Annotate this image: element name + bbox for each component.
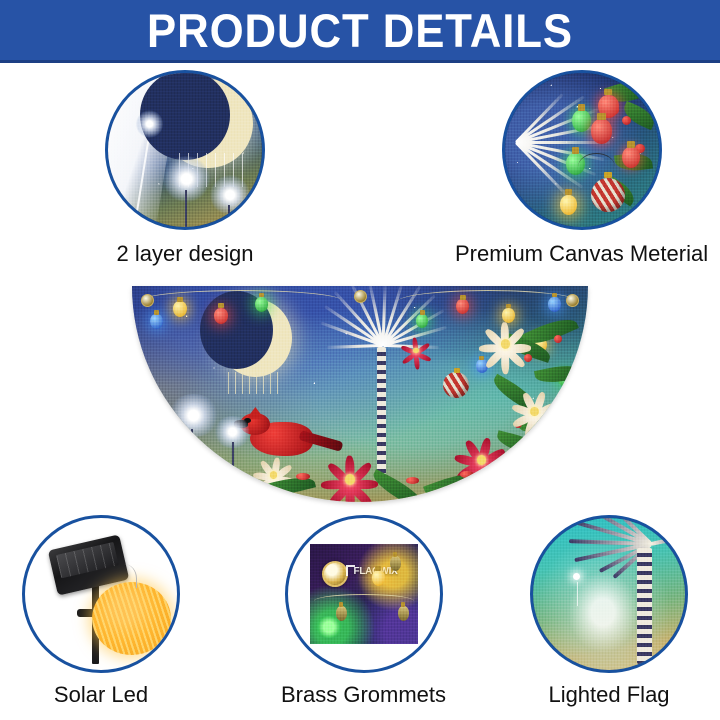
- feature-brass-grommets: FLAGWIX Brass Grommets: [281, 515, 446, 707]
- header-banner: PRODUCT DETAILS: [0, 0, 720, 63]
- flag-corner-crop: FLAGWIX: [310, 544, 418, 644]
- canvas-weave-texture: [132, 286, 588, 502]
- feature-two-layer-design: 2 layer design: [105, 70, 265, 266]
- canvas-weave-texture: [505, 73, 659, 227]
- grommet: [566, 294, 579, 307]
- canvas-weave-texture: [533, 518, 685, 670]
- premium-canvas-image: [502, 70, 662, 230]
- grommet: [354, 290, 367, 303]
- lead-wire: [116, 564, 137, 588]
- solar-led-image: [22, 515, 180, 673]
- fairy-light-coil: [92, 582, 171, 655]
- canvas-weave-texture: [310, 544, 418, 644]
- feature-caption: 2 layer design: [117, 242, 254, 266]
- feature-solar-led: Solar Led: [22, 515, 180, 707]
- feature-caption: Lighted Flag: [548, 683, 669, 707]
- brass-grommets-image: FLAGWIX: [285, 515, 443, 673]
- feature-caption: Brass Grommets: [281, 683, 446, 707]
- canvas-weave-texture: [108, 73, 262, 227]
- page-title: PRODUCT DETAILS: [147, 7, 573, 54]
- feature-caption: Solar Led: [54, 683, 148, 707]
- main-product-image: [132, 286, 588, 502]
- feature-lighted-flag: Lighted Flag: [530, 515, 688, 707]
- two-layer-design-image: [105, 70, 265, 230]
- feature-premium-canvas: Premium Canvas Meterial: [455, 70, 708, 266]
- lighted-flag-image: [530, 515, 688, 673]
- grommet: [141, 294, 154, 307]
- feature-caption: Premium Canvas Meterial: [455, 242, 708, 266]
